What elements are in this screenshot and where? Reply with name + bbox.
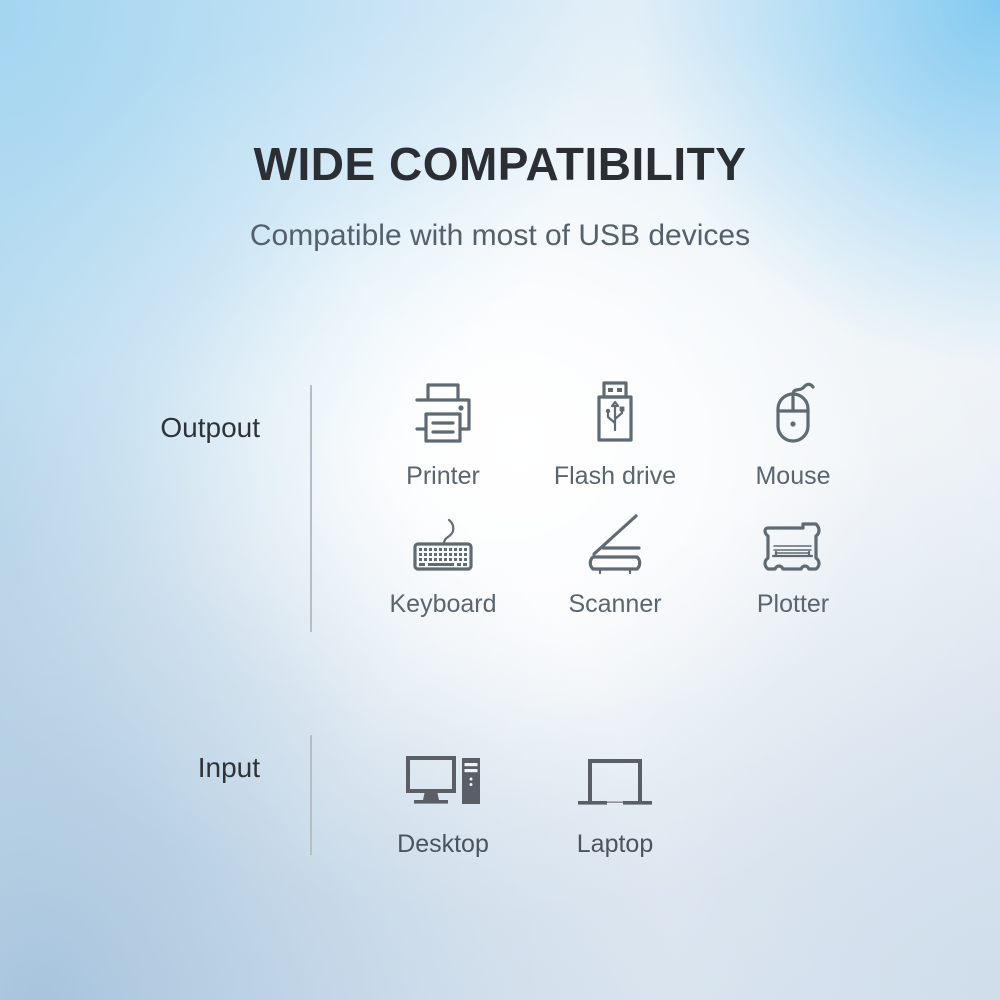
page-subtitle: Compatible with most of USB devices	[0, 219, 1000, 253]
laptop-icon	[540, 740, 690, 824]
section-divider-input	[310, 735, 312, 855]
device-item-keyboard[interactable]: Keyboard	[368, 500, 518, 619]
device-item-laptop[interactable]: Laptop	[540, 740, 690, 859]
usb-flash-drive-icon	[540, 372, 690, 456]
printer-icon	[368, 372, 518, 456]
device-caption: Flash drive	[540, 462, 690, 491]
section-label-input: Input	[60, 752, 260, 784]
device-caption: Desktop	[368, 830, 518, 859]
section-divider-outpout	[310, 385, 312, 632]
device-caption: Plotter	[718, 590, 868, 619]
device-item-flash-drive[interactable]: Flash drive	[540, 372, 690, 491]
desktop-computer-icon	[368, 740, 518, 824]
device-caption: Mouse	[718, 462, 868, 491]
device-caption: Printer	[368, 462, 518, 491]
device-item-plotter[interactable]: Plotter	[718, 500, 868, 619]
mouse-icon	[718, 372, 868, 456]
plotter-icon	[718, 500, 868, 584]
section-label-outpout: Outpout	[60, 412, 260, 444]
device-item-mouse[interactable]: Mouse	[718, 372, 868, 491]
device-caption: Laptop	[540, 830, 690, 859]
keyboard-icon	[368, 500, 518, 584]
page-title: WIDE COMPATIBILITY	[0, 137, 1000, 191]
device-caption: Keyboard	[368, 590, 518, 619]
device-item-printer[interactable]: Printer	[368, 372, 518, 491]
device-caption: Scanner	[540, 590, 690, 619]
device-item-scanner[interactable]: Scanner	[540, 500, 690, 619]
device-item-desktop[interactable]: Desktop	[368, 740, 518, 859]
scanner-icon	[540, 500, 690, 584]
infographic-stage: WIDE COMPATIBILITY Compatible with most …	[0, 0, 1000, 1000]
